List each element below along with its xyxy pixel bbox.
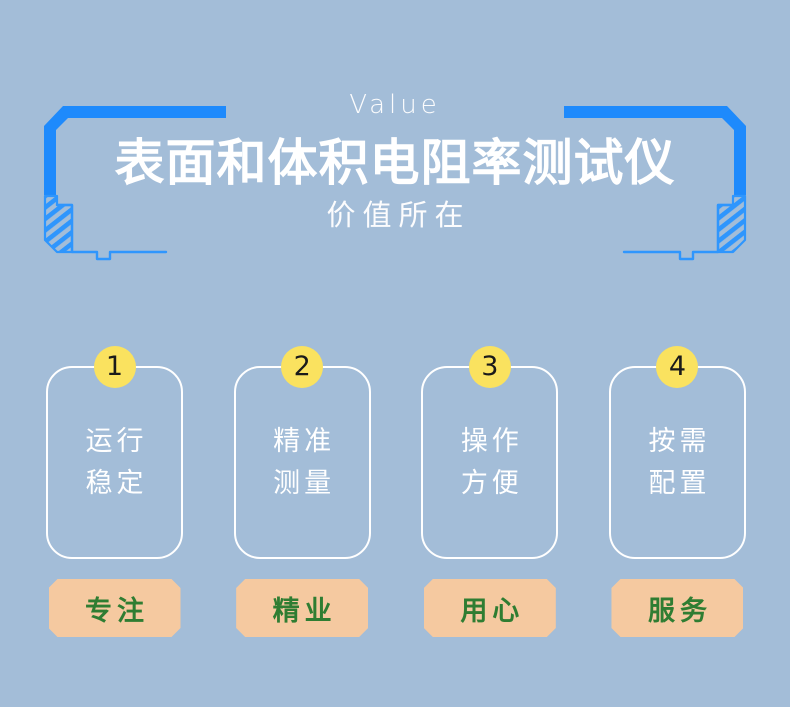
value-card-1-number-badge: 1 [94, 346, 136, 388]
value-card-2-box: 2 精准 测量 [234, 366, 371, 559]
value-card-3-box: 3 操作 方便 [421, 366, 558, 559]
value-card-1-box: 1 运行 稳定 [46, 366, 183, 559]
value-card-4-line1: 按需 [644, 421, 710, 462]
value-card-4-box: 4 按需 配置 [609, 366, 746, 559]
value-card-4-number-badge: 4 [656, 346, 698, 388]
value-card-2-line1: 精准 [269, 421, 335, 462]
value-card-4-line2: 配置 [644, 463, 710, 504]
value-card-3-tag[interactable]: 用心 [424, 579, 556, 637]
value-card-2-tag[interactable]: 精业 [236, 579, 368, 637]
value-card-2-number-badge: 2 [281, 346, 323, 388]
value-card-1-line1: 运行 [82, 421, 148, 462]
value-card-3-number-badge: 3 [469, 346, 511, 388]
value-card-3-line2: 方便 [457, 463, 523, 504]
value-card-1[interactable]: 1 运行 稳定 专注 [46, 366, 183, 637]
value-card-1-tag[interactable]: 专注 [49, 579, 181, 637]
value-card-2[interactable]: 2 精准 测量 精业 [234, 366, 371, 637]
value-card-2-line2: 测量 [269, 463, 335, 504]
banner-header: Value 表面和体积电阻率测试仪 价值所在 [0, 0, 790, 300]
value-card-4-tag[interactable]: 服务 [611, 579, 743, 637]
value-card-4[interactable]: 4 按需 配置 服务 [609, 366, 746, 637]
value-cards-row: 1 运行 稳定 专注 2 精准 测量 精业 3 操作 方便 用心 4 按需 配置… [46, 366, 746, 637]
value-card-3-line1: 操作 [457, 421, 523, 462]
value-card-1-line2: 稳定 [82, 463, 148, 504]
value-card-3[interactable]: 3 操作 方便 用心 [421, 366, 558, 637]
bracket-frame-decoration-icon [0, 0, 790, 300]
